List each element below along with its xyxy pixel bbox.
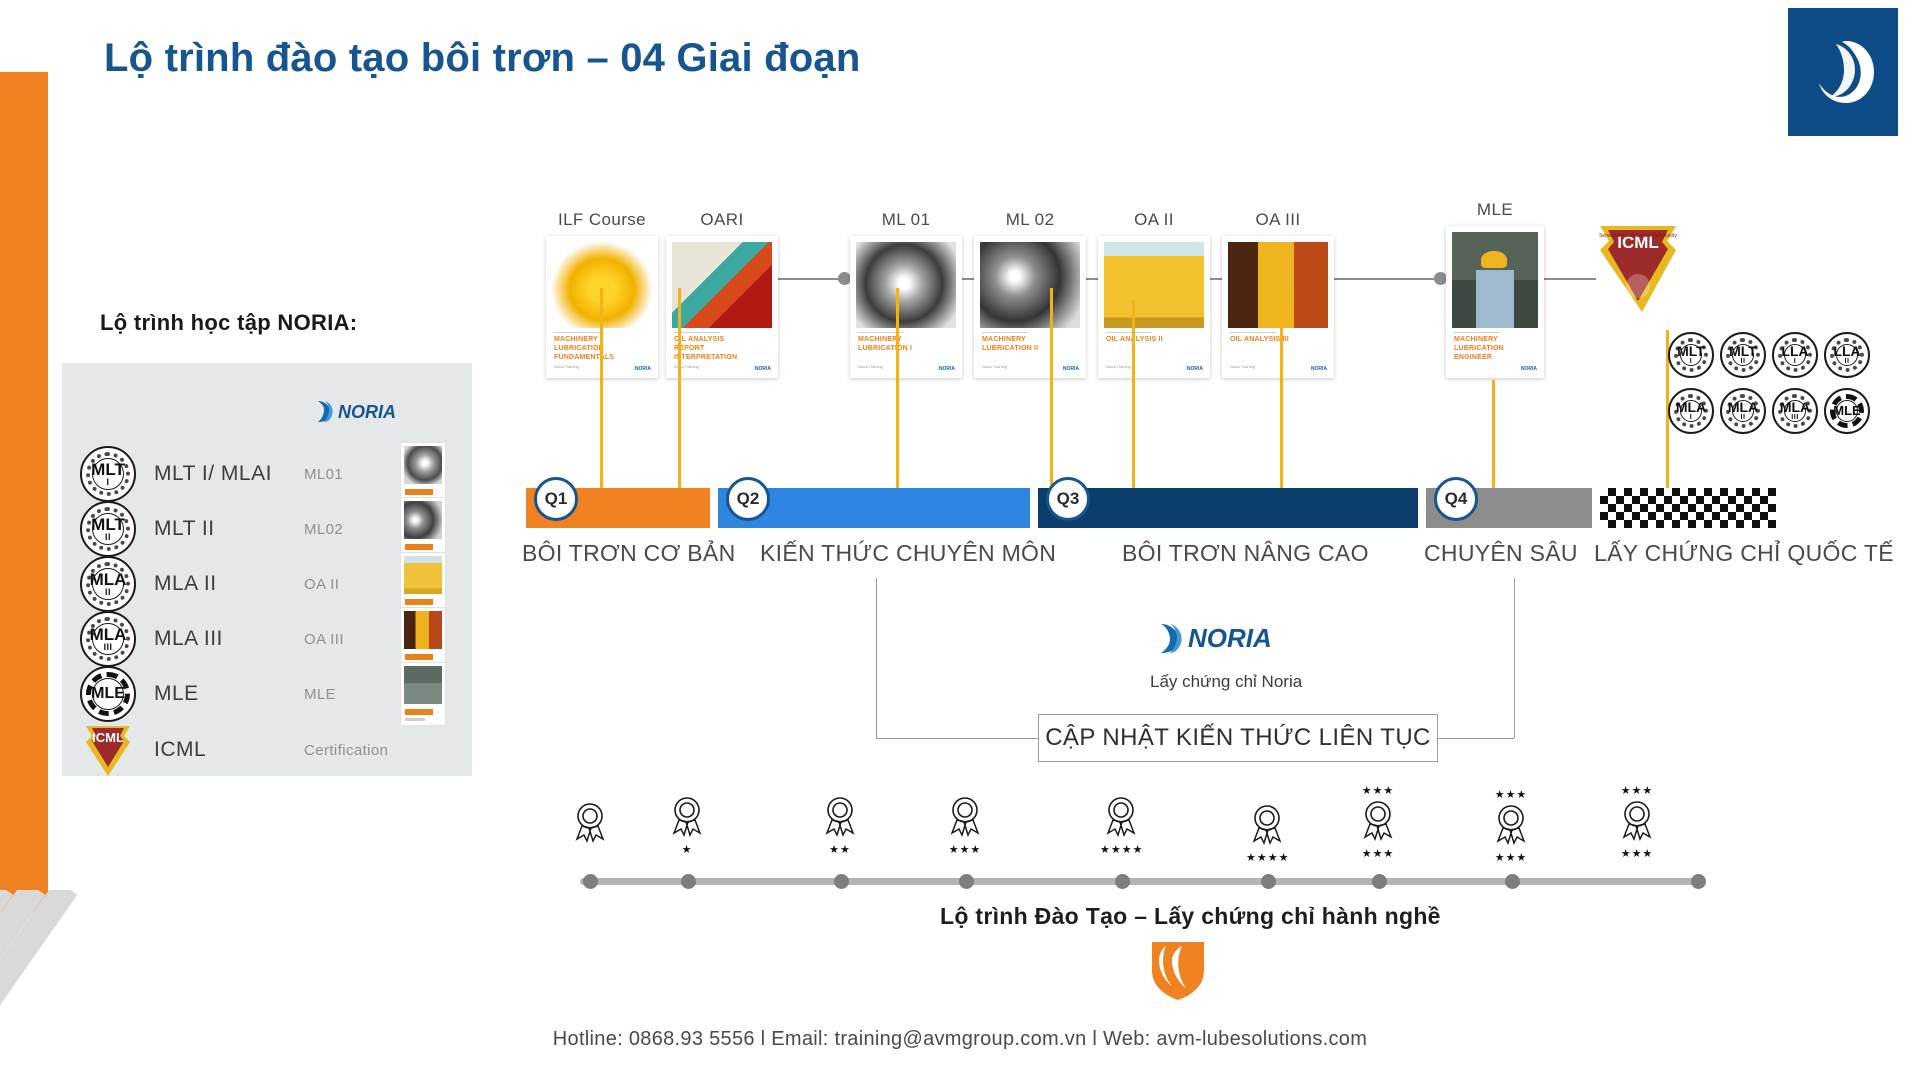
- phase-bar-q3[interactable]: [1038, 488, 1418, 528]
- course-book-cover: MACHINERYLUBRICATION I Noria TrainingNOR…: [850, 236, 962, 378]
- badge-row-1: MLTI MLTII LLAI LLAII: [1668, 332, 1870, 378]
- course-book-cover: OIL ANALYSIS II Noria TrainingNORIA: [1098, 236, 1210, 378]
- medal-item: ★: [666, 794, 708, 857]
- medal-dot: [1372, 874, 1387, 889]
- medal-item: ★★★★: [1246, 790, 1288, 865]
- mle-badge-icon: MLE: [1824, 388, 1870, 434]
- badge-level: II: [1729, 358, 1757, 365]
- course-mle[interactable]: MLE MACHINERYLUBRICATIONENGINEER NORIA: [1446, 226, 1544, 378]
- course-label: ML 01: [882, 210, 931, 230]
- medal-stars: ★: [666, 845, 708, 857]
- bracket-left: [876, 578, 878, 738]
- phase-label-q2: KIẾN THỨC CHUYÊN MÔN: [760, 540, 1056, 567]
- course-book-cover: MACHINERYLUBRICATIONENGINEER NORIA: [1446, 226, 1544, 378]
- seal-level: II: [90, 588, 127, 596]
- avm-shield-logo: [1148, 938, 1208, 1005]
- icml-trophy-icon: ICML Serving the Lubrication Community: [1596, 222, 1680, 327]
- sidebar-row-name: MLA III: [154, 627, 304, 651]
- medal-stars: ★★★: [1616, 849, 1658, 861]
- drop-line: [1050, 288, 1053, 500]
- sidebar-row-code: ML01: [304, 466, 400, 483]
- icml-shield-icon: ICML: [80, 722, 136, 778]
- page-title: Lộ trình đào tạo bôi trơn – 04 Giai đoạn: [104, 36, 860, 81]
- drop-line: [600, 288, 603, 500]
- phase-badge-q4: Q4: [1434, 477, 1478, 521]
- company-logo: [1788, 8, 1898, 136]
- course-label: OA III: [1256, 210, 1301, 230]
- sidebar-row-code: MLE: [304, 686, 400, 703]
- phase-badge-q1: Q1: [534, 477, 578, 521]
- badge-level: II: [1833, 358, 1860, 365]
- phase-bar-certification[interactable]: [1600, 488, 1776, 528]
- left-stripe-decoration: [0, 890, 100, 1080]
- medal-item: ★★: [819, 794, 861, 857]
- sidebar-row-name: ICML: [154, 738, 304, 762]
- seal-text: MLA: [90, 572, 127, 588]
- medal-timeline-line: [580, 878, 1704, 885]
- medal-dot: [583, 874, 598, 889]
- phase-label-q3: BÔI TRƠN NÂNG CAO: [1122, 540, 1369, 567]
- noria-caption: Lấy chứng chỉ Noria: [1150, 672, 1302, 692]
- medal-stars: [569, 851, 611, 863]
- svg-text:Serving the Lubrication Commun: Serving the Lubrication Community: [1599, 233, 1677, 239]
- medal-stars-top: ★★★: [1357, 786, 1399, 798]
- medal-stars: ★★★★: [1100, 845, 1142, 857]
- sidebar-row-code: Certification: [304, 742, 400, 759]
- course-ml02[interactable]: ML 02 MACHINERYLUBRICATION II Noria Trai…: [974, 236, 1086, 378]
- badge-level: I: [1677, 358, 1705, 365]
- medal-dot: [1691, 874, 1706, 889]
- mlt-2-badge-icon: MLTII: [1720, 332, 1766, 378]
- noria-logo-sidebar: NORIA: [316, 398, 410, 429]
- svg-text:NORIA: NORIA: [1188, 623, 1272, 653]
- seal-level: I: [91, 478, 125, 486]
- course-oa2[interactable]: OA II OIL ANALYSIS II Noria TrainingNORI…: [1098, 236, 1210, 378]
- sidebar-row-name: MLT II: [154, 517, 304, 541]
- medal-stars-top: ★★★: [1490, 790, 1532, 802]
- drop-line: [1492, 380, 1495, 500]
- badge-level: I: [1676, 414, 1706, 421]
- badge-row-2: MLAI MLAII MLAIII MLE: [1668, 388, 1870, 434]
- sidebar-row-name: MLA II: [154, 572, 304, 596]
- mla-2-seal-icon: MLA II: [80, 556, 136, 612]
- sidebar-row-name: MLE: [154, 682, 304, 706]
- mla-3-seal-icon: MLA III: [80, 611, 136, 667]
- sidebar-row-code: ML02: [304, 521, 400, 538]
- medal-stars-top: [1246, 790, 1288, 802]
- seal-text: MLT: [91, 517, 125, 533]
- sidebar-row-icml[interactable]: ICML ICML Certification: [80, 716, 480, 784]
- seal-text: MLT: [91, 462, 125, 478]
- sidebar-row-code: OA III: [304, 631, 400, 648]
- sidebar-row-name: MLT I/ MLAI: [154, 462, 304, 486]
- medal-dot: [1115, 874, 1130, 889]
- mla-3-badge-icon: MLAIII: [1772, 388, 1818, 434]
- medal-stars: ★★★: [1357, 849, 1399, 861]
- bracket-bottom-left: [876, 738, 1038, 740]
- medal-dot: [1261, 874, 1276, 889]
- medal-item: ★★★: [944, 794, 986, 857]
- course-oa3[interactable]: OA III OIL ANALYSIS III Noria TrainingNO…: [1222, 236, 1334, 378]
- sidebar-row-code: OA II: [304, 576, 400, 593]
- seal-level: III: [90, 643, 127, 651]
- drop-line: [1132, 300, 1135, 500]
- medal-dot: [959, 874, 974, 889]
- seal-text: MLA: [90, 627, 127, 643]
- bracket-bottom-right: [1436, 738, 1514, 740]
- svg-text:NORIA: NORIA: [338, 402, 396, 422]
- medal-stars: ★★★: [1490, 853, 1532, 865]
- phase-badge-q2: Q2: [726, 477, 770, 521]
- badge-level: I: [1781, 358, 1808, 365]
- badge-level: II: [1728, 414, 1758, 421]
- course-book-cover: OIL ANALYSISREPORTINTERPRETATION Noria T…: [666, 236, 778, 378]
- medal-item: [569, 800, 611, 863]
- continuous-learning-box[interactable]: CẬP NHẬT KIẾN THỨC LIÊN TỤC: [1038, 714, 1438, 762]
- medal-dot: [1505, 874, 1520, 889]
- course-ml01[interactable]: ML 01 MACHINERYLUBRICATION I Noria Train…: [850, 236, 962, 378]
- medal-stars: ★★★: [944, 845, 986, 857]
- badge-level: III: [1780, 414, 1810, 421]
- lla-1-badge-icon: LLAI: [1772, 332, 1818, 378]
- medal-item: ★★★★: [1100, 794, 1142, 857]
- course-book-cover: MACHINERYLUBRICATION II Noria TrainingNO…: [974, 236, 1086, 378]
- svg-text:ICML: ICML: [92, 730, 124, 745]
- course-oari[interactable]: OARI OIL ANALYSISREPORTINTERPRETATION No…: [666, 236, 778, 378]
- bracket-right: [1514, 578, 1516, 738]
- mlt-1-badge-icon: MLTI: [1668, 332, 1714, 378]
- certification-badge-grid: MLTI MLTII LLAI LLAII MLAI MLAII MLAIII …: [1668, 332, 1870, 434]
- phase-label-q1: BÔI TRƠN CƠ BẢN: [522, 540, 736, 567]
- slide-root: Lộ trình đào tạo bôi trơn – 04 Giai đoạn…: [0, 0, 1920, 1080]
- course-label: ML 02: [1006, 210, 1055, 230]
- drop-line: [896, 288, 899, 500]
- mle-seal-icon: MLE: [80, 666, 136, 722]
- drop-line: [678, 288, 681, 500]
- medal-dot: [834, 874, 849, 889]
- course-label: MLE: [1477, 200, 1513, 220]
- mlt-1-seal-icon: MLT I: [80, 446, 136, 502]
- medal-stars-top: ★★★: [1616, 786, 1658, 798]
- course-label: OA II: [1134, 210, 1174, 230]
- course-label: OARI: [700, 210, 743, 230]
- bottom-title: Lộ trình Đào Tạo – Lấy chứng chỉ hành ng…: [940, 903, 1441, 930]
- medal-stars: ★★★★: [1246, 853, 1288, 865]
- footer-contact: Hotline: 0868.93 5556 l Email: training@…: [0, 1028, 1920, 1051]
- course-book-cover: OIL ANALYSIS III Noria TrainingNORIA: [1222, 236, 1334, 378]
- badge-text: MLE: [1833, 405, 1860, 417]
- mla-2-badge-icon: MLAII: [1720, 388, 1766, 434]
- medal-item: ★★★ ★★★: [1490, 790, 1532, 865]
- medal-stars: ★★: [819, 845, 861, 857]
- course-label: ILF Course: [558, 210, 646, 230]
- sidebar-heading: Lộ trình học tập NORIA:: [100, 310, 357, 336]
- drop-line: [1280, 300, 1283, 500]
- medal-item: ★★★ ★★★: [1616, 786, 1658, 861]
- phase-label-q4: CHUYÊN SÂU: [1424, 540, 1578, 567]
- seal-text: MLE: [91, 686, 125, 701]
- noria-logo-mid: NORIA: [1158, 620, 1296, 659]
- left-accent-bar: [0, 72, 48, 912]
- medal-item: ★★★ ★★★: [1357, 786, 1399, 861]
- medal-dot: [681, 874, 696, 889]
- phase-badge-q3: Q3: [1046, 477, 1090, 521]
- phase-label-certification: LẤY CHỨNG CHỈ QUỐC TẾ: [1594, 540, 1894, 567]
- lla-2-badge-icon: LLAII: [1824, 332, 1870, 378]
- seal-level: II: [91, 533, 125, 541]
- mlt-2-seal-icon: MLT II: [80, 501, 136, 557]
- connector-line: [1332, 278, 1442, 280]
- mla-1-badge-icon: MLAI: [1668, 388, 1714, 434]
